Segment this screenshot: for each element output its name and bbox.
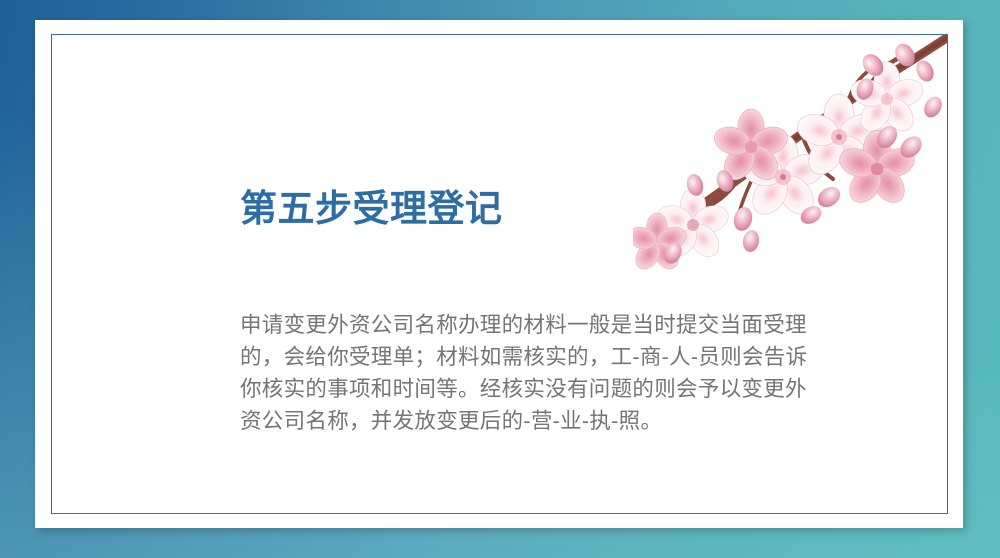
- page-title: 第五步受理登记: [240, 187, 503, 231]
- presentation-slide: 第五步受理登记 申请变更外资公司名称办理的材料一般是当时提交当面受理 的，会给你…: [0, 0, 1000, 558]
- slide-content-area: 第五步受理登记 申请变更外资公司名称办理的材料一般是当时提交当面受理 的，会给你…: [51, 34, 948, 514]
- slide-card: 第五步受理登记 申请变更外资公司名称办理的材料一般是当时提交当面受理 的，会给你…: [35, 20, 963, 528]
- body-paragraph: 申请变更外资公司名称办理的材料一般是当时提交当面受理 的，会给你受理单；材料如需…: [240, 309, 860, 437]
- baidu-logo: [697, 433, 933, 485]
- body-line: 你核实的事项和时间等。经核实没有问题的则会予以变更外: [240, 373, 860, 405]
- body-line: 的，会给你受理单；材料如需核实的，工-商-人-员则会告诉: [240, 341, 860, 373]
- cherry-blossom-branch-icon: [633, 34, 948, 274]
- body-line: 申请变更外资公司名称办理的材料一般是当时提交当面受理: [240, 309, 860, 341]
- watermark-url: jingyan.baidu.com: [705, 483, 876, 506]
- body-line: 资公司名称，并发放变更后的-营-业-执-照。: [240, 405, 860, 437]
- baidu-jingyan-watermark: jingyan.baidu.com: [697, 433, 933, 511]
